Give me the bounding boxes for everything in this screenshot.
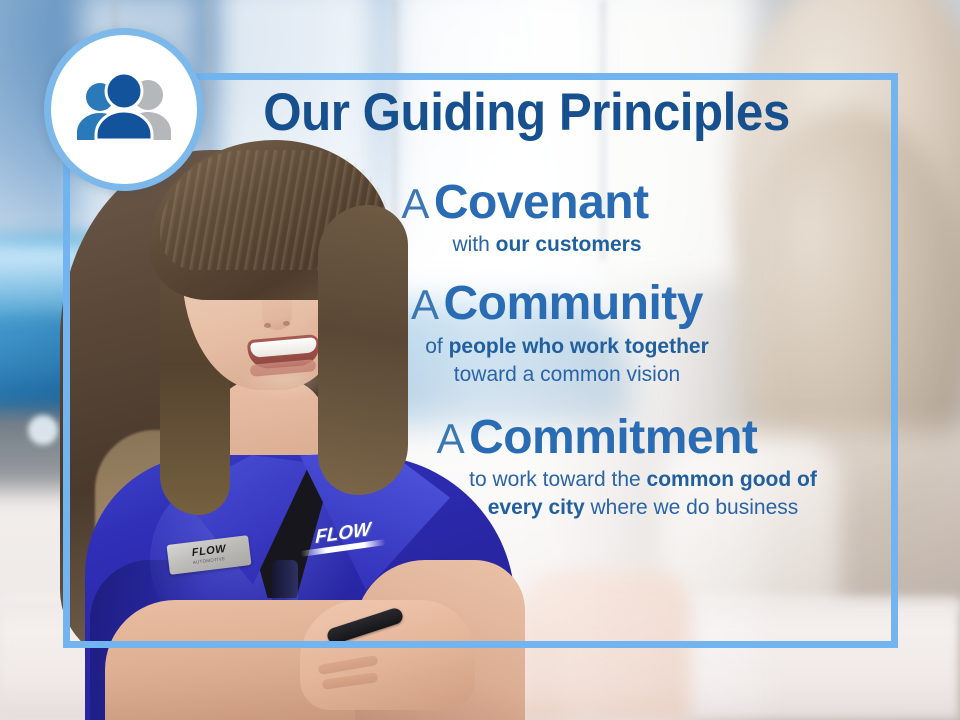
principle-word: Covenant: [434, 176, 649, 229]
principle-community: A Community of people who work togethert…: [212, 279, 902, 388]
principle-subtext: with our customers: [202, 231, 892, 259]
principle-commitment: A Commitment to work toward the common g…: [252, 413, 942, 522]
principle-article: A: [401, 180, 429, 227]
principle-title: A Covenant: [180, 178, 870, 228]
principles-list: A Covenant with our customers A Communit…: [190, 178, 880, 528]
principle-article: A: [437, 415, 465, 462]
principle-article: A: [411, 281, 439, 328]
principle-title: A Commitment: [252, 413, 942, 463]
principle-title: A Community: [212, 279, 902, 329]
principle-subtext: of people who work togethertoward a comm…: [222, 333, 912, 389]
principle-word: Commitment: [469, 411, 757, 464]
page-title: Our Guiding Principles: [34, 86, 927, 139]
principle-covenant: A Covenant with our customers: [180, 178, 870, 259]
principle-subtext: to work toward the common good of every …: [458, 466, 828, 522]
principle-word: Community: [443, 277, 703, 330]
banner-canvas: FLOW AUTOMOTIVE FLOW: [0, 0, 960, 720]
